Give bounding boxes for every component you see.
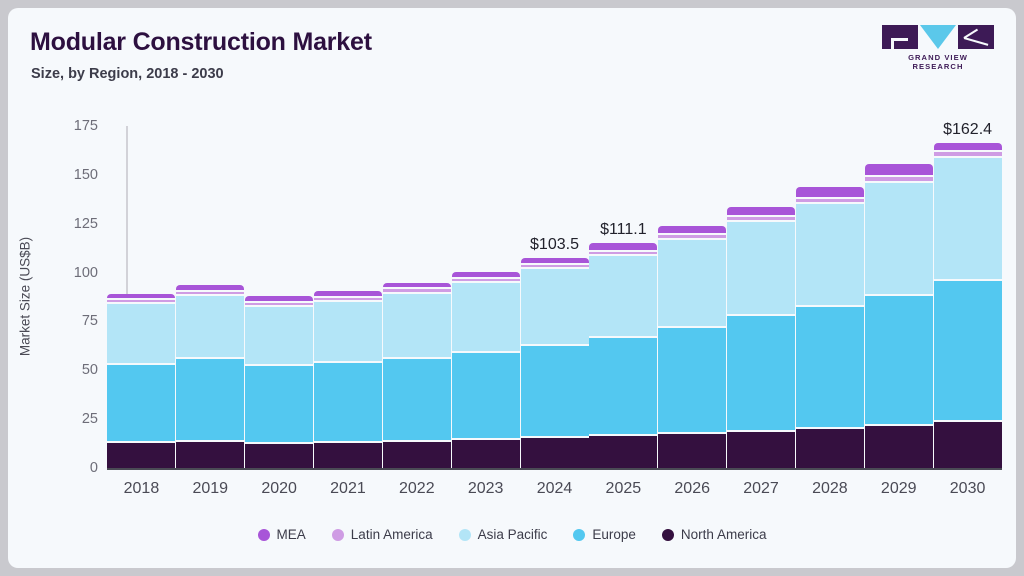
bar-segment-europe[interactable]	[452, 353, 520, 438]
bar-segment-europe[interactable]	[658, 328, 726, 433]
y-axis-tick-label: 50	[48, 362, 98, 378]
bar-segment-asia-pacific[interactable]	[176, 296, 244, 358]
bar-segment-asia-pacific[interactable]	[383, 294, 451, 358]
chart-card: Modular Construction Market Size, by Reg…	[8, 8, 1016, 568]
legend-swatch-icon	[258, 529, 270, 541]
stacked-bar[interactable]	[314, 291, 382, 468]
stacked-bar[interactable]	[383, 283, 451, 468]
bar-segment-asia-pacific[interactable]	[865, 183, 933, 294]
bar-segment-north-america[interactable]	[245, 444, 313, 468]
bar-segment-north-america[interactable]	[383, 442, 451, 468]
y-axis-title: Market Size (US$B)	[18, 137, 33, 457]
legend-item-north-america[interactable]: North America	[662, 527, 767, 542]
bar-segment-north-america[interactable]	[176, 442, 244, 468]
y-axis-tick-label: 125	[48, 216, 98, 232]
legend-label: Europe	[592, 527, 636, 542]
bar-segment-europe[interactable]	[589, 338, 657, 435]
legend-label: Latin America	[351, 527, 433, 542]
y-axis-tick-label: 0	[48, 460, 98, 476]
bar-segment-north-america[interactable]	[934, 422, 1002, 468]
bar-segment-asia-pacific[interactable]	[796, 204, 864, 305]
y-axis-tick-label: 75	[48, 313, 98, 329]
bar-series-group	[107, 126, 1002, 468]
stacked-bar[interactable]	[865, 164, 933, 468]
bar-segment-europe[interactable]	[176, 359, 244, 440]
legend-item-mea[interactable]: MEA	[258, 527, 306, 542]
bar-segment-europe[interactable]	[107, 365, 175, 441]
bar-segment-mea[interactable]	[865, 164, 933, 175]
legend-item-latin-america[interactable]: Latin America	[332, 527, 433, 542]
bar-value-label: $111.1	[563, 221, 683, 239]
bar-value-label: $162.4	[908, 121, 1016, 139]
stacked-bar[interactable]	[934, 143, 1002, 468]
bar-segment-mea[interactable]	[934, 143, 1002, 150]
bar-segment-north-america[interactable]	[796, 429, 864, 468]
x-axis-line	[107, 468, 1002, 470]
y-axis-tick-label: 150	[48, 167, 98, 183]
stacked-bar[interactable]	[107, 294, 175, 468]
bar-segment-asia-pacific[interactable]	[658, 240, 726, 326]
y-axis-tick-label: 100	[48, 265, 98, 281]
stacked-bar[interactable]	[796, 187, 864, 468]
bar-segment-mea[interactable]	[796, 187, 864, 196]
bar-segment-asia-pacific[interactable]	[245, 307, 313, 365]
bar-segment-asia-pacific[interactable]	[589, 256, 657, 335]
bar-segment-europe[interactable]	[521, 346, 589, 436]
chart-legend: MEALatin AmericaAsia PacificEuropeNorth …	[8, 527, 1016, 542]
bar-segment-north-america[interactable]	[314, 443, 382, 468]
bar-segment-north-america[interactable]	[589, 436, 657, 468]
legend-label: North America	[681, 527, 767, 542]
bar-segment-north-america[interactable]	[452, 440, 520, 468]
stacked-bar[interactable]	[176, 285, 244, 468]
bar-segment-europe[interactable]	[245, 366, 313, 442]
stacked-bar[interactable]	[452, 272, 520, 468]
legend-item-asia-pacific[interactable]: Asia Pacific	[459, 527, 548, 542]
stacked-bar[interactable]	[658, 226, 726, 468]
bar-segment-north-america[interactable]	[521, 438, 589, 468]
stacked-bar[interactable]	[245, 296, 313, 468]
y-axis-tick-label: 175	[48, 118, 98, 134]
stacked-bar[interactable]	[727, 207, 795, 468]
legend-swatch-icon	[573, 529, 585, 541]
bar-segment-asia-pacific[interactable]	[521, 269, 589, 343]
legend-item-europe[interactable]: Europe	[573, 527, 636, 542]
bar-segment-europe[interactable]	[314, 363, 382, 440]
legend-label: Asia Pacific	[478, 527, 548, 542]
bar-segment-europe[interactable]	[383, 359, 451, 440]
bar-segment-asia-pacific[interactable]	[452, 283, 520, 351]
bar-segment-north-america[interactable]	[658, 434, 726, 468]
y-axis-tick-label: 25	[48, 411, 98, 427]
bar-segment-north-america[interactable]	[107, 443, 175, 468]
bar-segment-europe[interactable]	[865, 296, 933, 424]
stacked-bar[interactable]	[589, 243, 657, 468]
bar-segment-asia-pacific[interactable]	[727, 222, 795, 314]
x-axis-tick-label: 2030	[908, 480, 1016, 498]
bar-segment-asia-pacific[interactable]	[314, 302, 382, 362]
bar-segment-europe[interactable]	[727, 316, 795, 429]
bar-segment-north-america[interactable]	[727, 432, 795, 468]
bar-segment-north-america[interactable]	[865, 426, 933, 468]
bar-segment-asia-pacific[interactable]	[934, 158, 1002, 279]
legend-swatch-icon	[332, 529, 344, 541]
bar-segment-europe[interactable]	[934, 281, 1002, 420]
legend-label: MEA	[277, 527, 306, 542]
legend-swatch-icon	[662, 529, 674, 541]
bar-segment-mea[interactable]	[727, 207, 795, 215]
bar-segment-europe[interactable]	[796, 307, 864, 427]
bar-segment-asia-pacific[interactable]	[107, 304, 175, 363]
chart-plot-area: Market Size (US$B) 0255075100125150175 2…	[8, 8, 1016, 568]
legend-swatch-icon	[459, 529, 471, 541]
stacked-bar[interactable]	[521, 258, 589, 468]
